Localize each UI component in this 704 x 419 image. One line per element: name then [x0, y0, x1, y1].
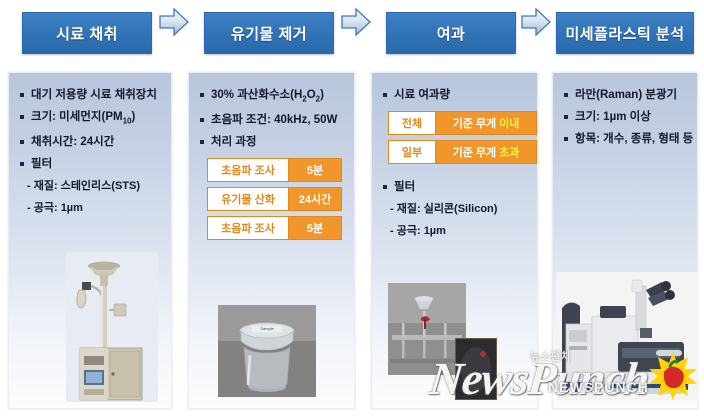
amount-highlight: 초과	[499, 147, 519, 159]
bullet-item: 채취시간: 24시간	[19, 136, 171, 149]
process-name: 초음파 조사	[207, 216, 289, 240]
watermark-korean-text: 뉴스펀치	[530, 348, 570, 364]
amount-value: 기준 무게 초과	[436, 140, 537, 164]
amount-row: 전체 기준 무게 이내	[388, 111, 537, 135]
process-time: 5분	[289, 158, 342, 182]
sub-item: 재질: 실리콘(Silicon)	[390, 203, 537, 216]
process-time: 5분	[289, 216, 342, 240]
photo-sample-beaker: Sample	[218, 305, 316, 397]
svg-text:Sample: Sample	[260, 326, 274, 331]
step-header-sampling: 시료 채취	[22, 12, 152, 54]
sub-item: 공극: 1µm	[27, 202, 171, 215]
right-arrow-icon	[520, 7, 552, 37]
bullet-item: 크기: 미세먼지(PM10)	[19, 111, 171, 127]
amount-highlight: 이내	[499, 118, 519, 130]
amount-prefix: 기준 무게	[453, 147, 500, 159]
step-header-microplastic-analysis: 미세플라스틱 분석	[556, 12, 694, 54]
process-time: 24시간	[289, 187, 342, 211]
amount-row: 일부 기준 무게 초과	[388, 140, 537, 164]
step-header-label: 여과	[437, 23, 466, 44]
step-header-label: 미세플라스틱 분석	[565, 23, 684, 44]
right-arrow-icon	[158, 7, 190, 37]
watermark-small-text: NEWSPUNCH	[548, 379, 649, 395]
amount-value: 기준 무게 이내	[436, 111, 537, 135]
process-row: 초음파 조사 5분	[207, 216, 354, 240]
bullet-item: 크기: 1µm 이상	[563, 111, 697, 124]
sub-item: 공극: 1µm	[390, 225, 537, 238]
step-header-label: 시료 채취	[56, 23, 118, 44]
amount-label: 전체	[388, 111, 436, 135]
process-name: 초음파 조사	[207, 158, 289, 182]
bullet-item: 대기 저용량 시료 채취장치	[19, 89, 171, 102]
amount-label: 일부	[388, 140, 436, 164]
bullet-item: 필터	[382, 181, 537, 194]
bullet-item: 항목: 개수, 종류, 형태 등	[563, 133, 697, 146]
bullet-item: 처리 과정	[199, 136, 354, 149]
infographic-canvas: 시료 채취 유기물 제거 여과 미세플라스틱 분석	[0, 0, 704, 419]
bullet-item: 초음파 조건: 40kHz, 50W	[199, 114, 354, 127]
process-name: 유기물 산화	[207, 187, 289, 211]
sub-item: 재질: 스테인리스(STS)	[27, 180, 171, 193]
step-header-filtration: 여과	[386, 12, 516, 54]
process-row: 초음파 조사 5분	[207, 158, 354, 182]
step-header-organic-removal: 유기물 제거	[204, 12, 334, 54]
bullet-item: 시료 여과량	[382, 89, 537, 102]
step-header-label: 유기물 제거	[231, 23, 307, 44]
process-row: 유기물 산화 24시간	[207, 187, 354, 211]
bullet-item: 라만(Raman) 분광기	[563, 89, 697, 102]
photo-air-sampler	[66, 252, 158, 402]
bullet-item: 필터	[19, 158, 171, 171]
amount-prefix: 기준 무게	[453, 118, 500, 130]
bullet-item: 30% 과산화수소(H2O2)	[199, 89, 354, 105]
starburst-badge-icon	[648, 352, 698, 400]
photo-dark-tile	[455, 338, 497, 400]
right-arrow-icon	[340, 7, 372, 37]
